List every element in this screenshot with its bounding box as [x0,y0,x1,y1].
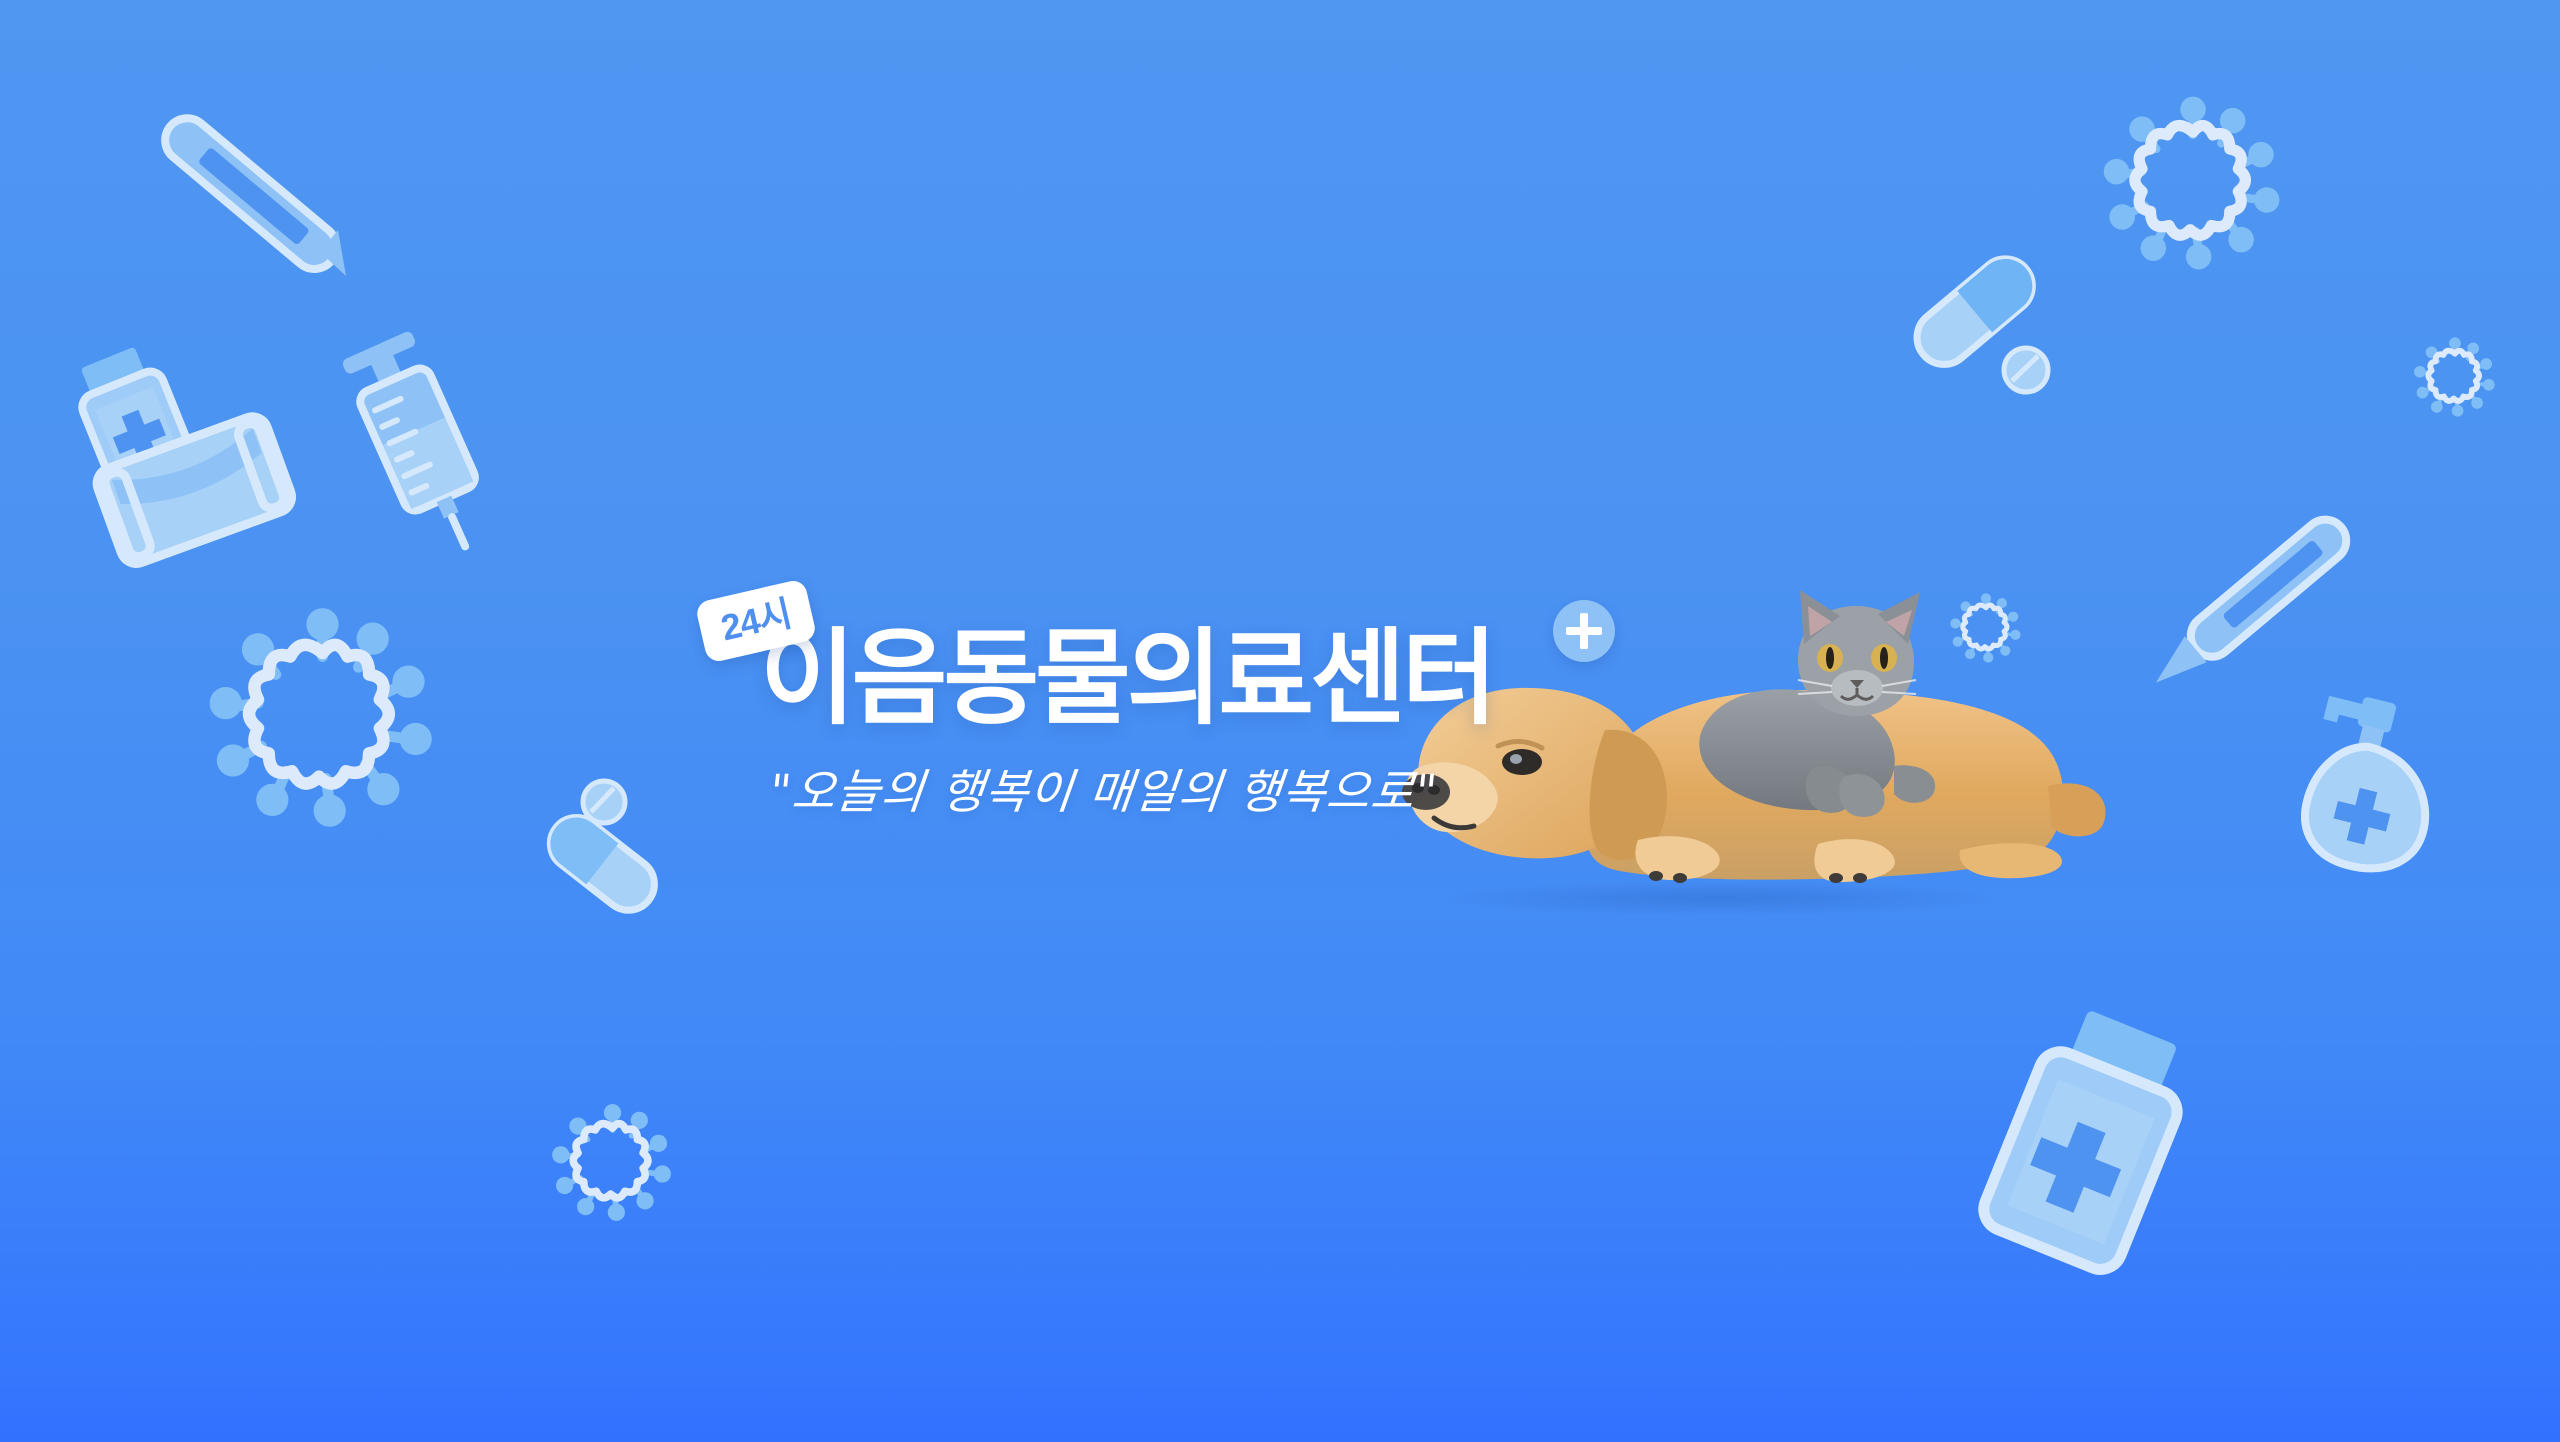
capsule-pill-icon [540,790,670,910]
capsule-pill-icon [1900,240,2050,380]
hero-slogan: "오늘의 행복이 매일의 행복으로" [766,753,1441,822]
syringe-icon [320,330,520,560]
medicine-bottle-icon [1970,1010,2210,1280]
medicine-bottle-icon [68,345,208,505]
medical-plus-circle-icon [1553,600,1615,662]
tablet-pill-icon [578,776,630,828]
thermometer-icon [2110,505,2390,705]
page-title: 이음동물의료센터 [760,623,1493,735]
virus-icon [215,610,430,825]
virus-icon [555,1105,670,1220]
hand-sanitizer-icon [2290,690,2480,890]
tablet-pill-icon [1998,342,2054,398]
24-hour-badge-label: 24시 [718,596,794,647]
virus-icon [2416,338,2494,416]
veterinary-hospital-banner: 24시 이음동물의료센터 "오늘의 행복이 매일의 행복으로" [0,0,2560,1442]
virus-icon [2108,98,2278,268]
thermometer-icon [150,110,360,290]
hero-text-block: 24시 이음동물의료센터 "오늘의 행복이 매일의 행복으로" [700,585,1640,875]
face-mask-icon [95,420,295,565]
